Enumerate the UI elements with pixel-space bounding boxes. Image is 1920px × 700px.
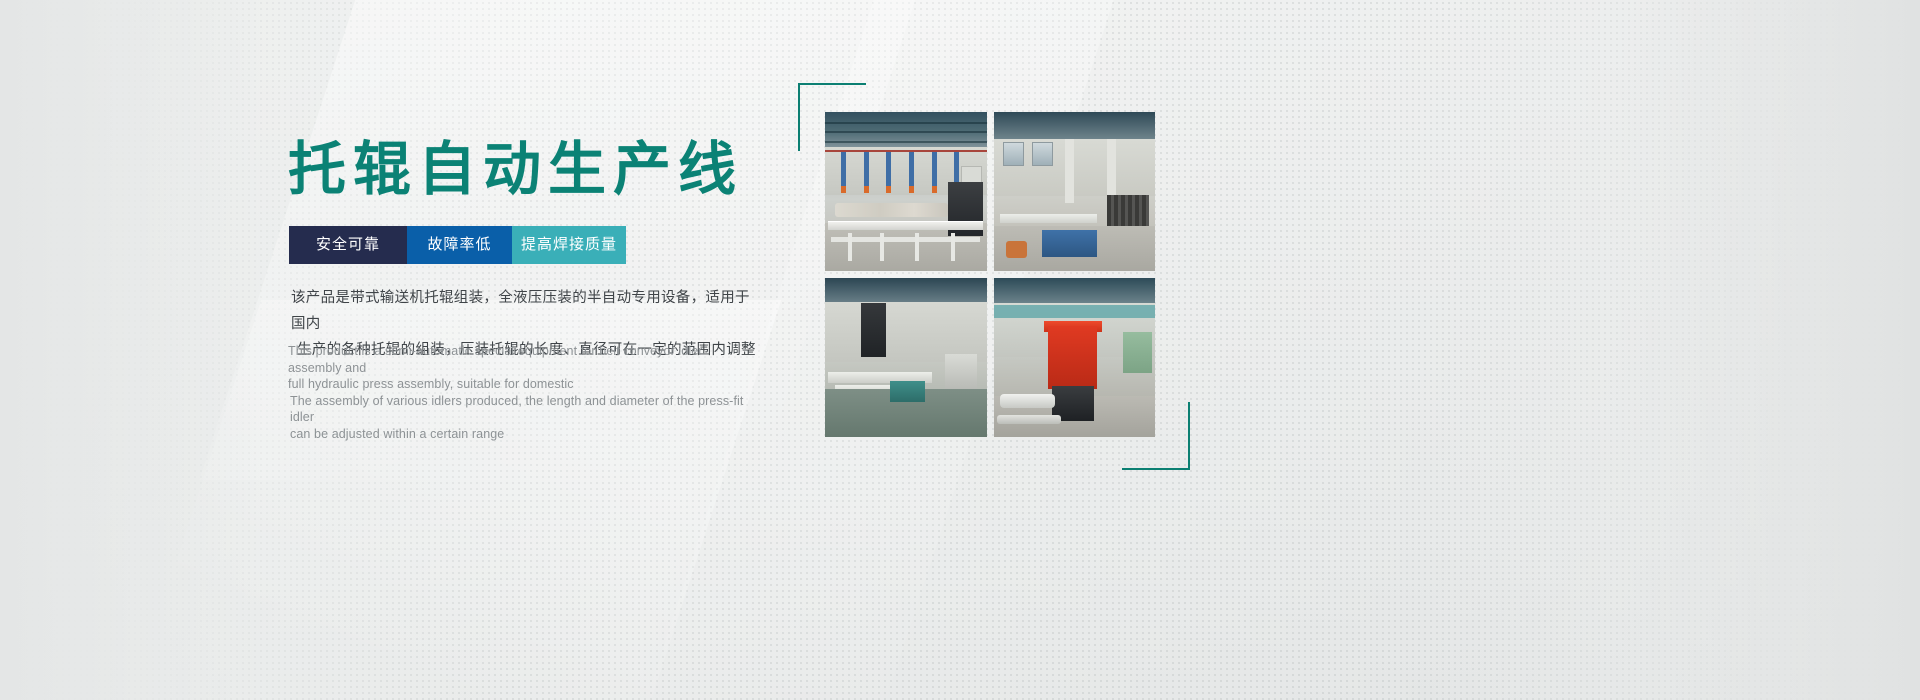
description-english: This product is a semi-automatic special… [288,343,758,442]
photo-red-press-machine[interactable] [994,278,1156,437]
banner-content: 托辊自动生产线 安全可靠 故障率低 提高焊接质量 该产品是带式输送机托辊组装，全… [0,0,1920,700]
description-english-line-4: can be adjusted within a certain range [288,426,758,443]
photo-conveyor-production-line[interactable] [825,112,987,271]
feature-badge-group: 安全可靠 故障率低 提高焊接质量 [289,226,626,264]
description-chinese-line-1: 该产品是带式输送机托辊组装，全液压压装的半自动专用设备，适用于国内 [291,285,761,337]
page-title: 托辊自动生产线 [288,138,743,202]
badge-safe-reliable[interactable]: 安全可靠 [289,226,407,264]
photo-collage [790,75,1210,475]
description-english-line-1: This product is a semi-automatic special… [288,343,758,376]
photo-machining-equipment-row[interactable] [825,278,987,437]
badge-low-failure-rate[interactable]: 故障率低 [407,226,512,264]
description-english-line-3: The assembly of various idlers produced,… [288,393,758,426]
photo-workshop-assembly-benches[interactable] [994,112,1156,271]
badge-improved-weld-quality[interactable]: 提高焊接质量 [512,226,626,264]
photo-grid [825,112,1155,437]
description-english-line-2: full hydraulic press assembly, suitable … [288,376,758,393]
